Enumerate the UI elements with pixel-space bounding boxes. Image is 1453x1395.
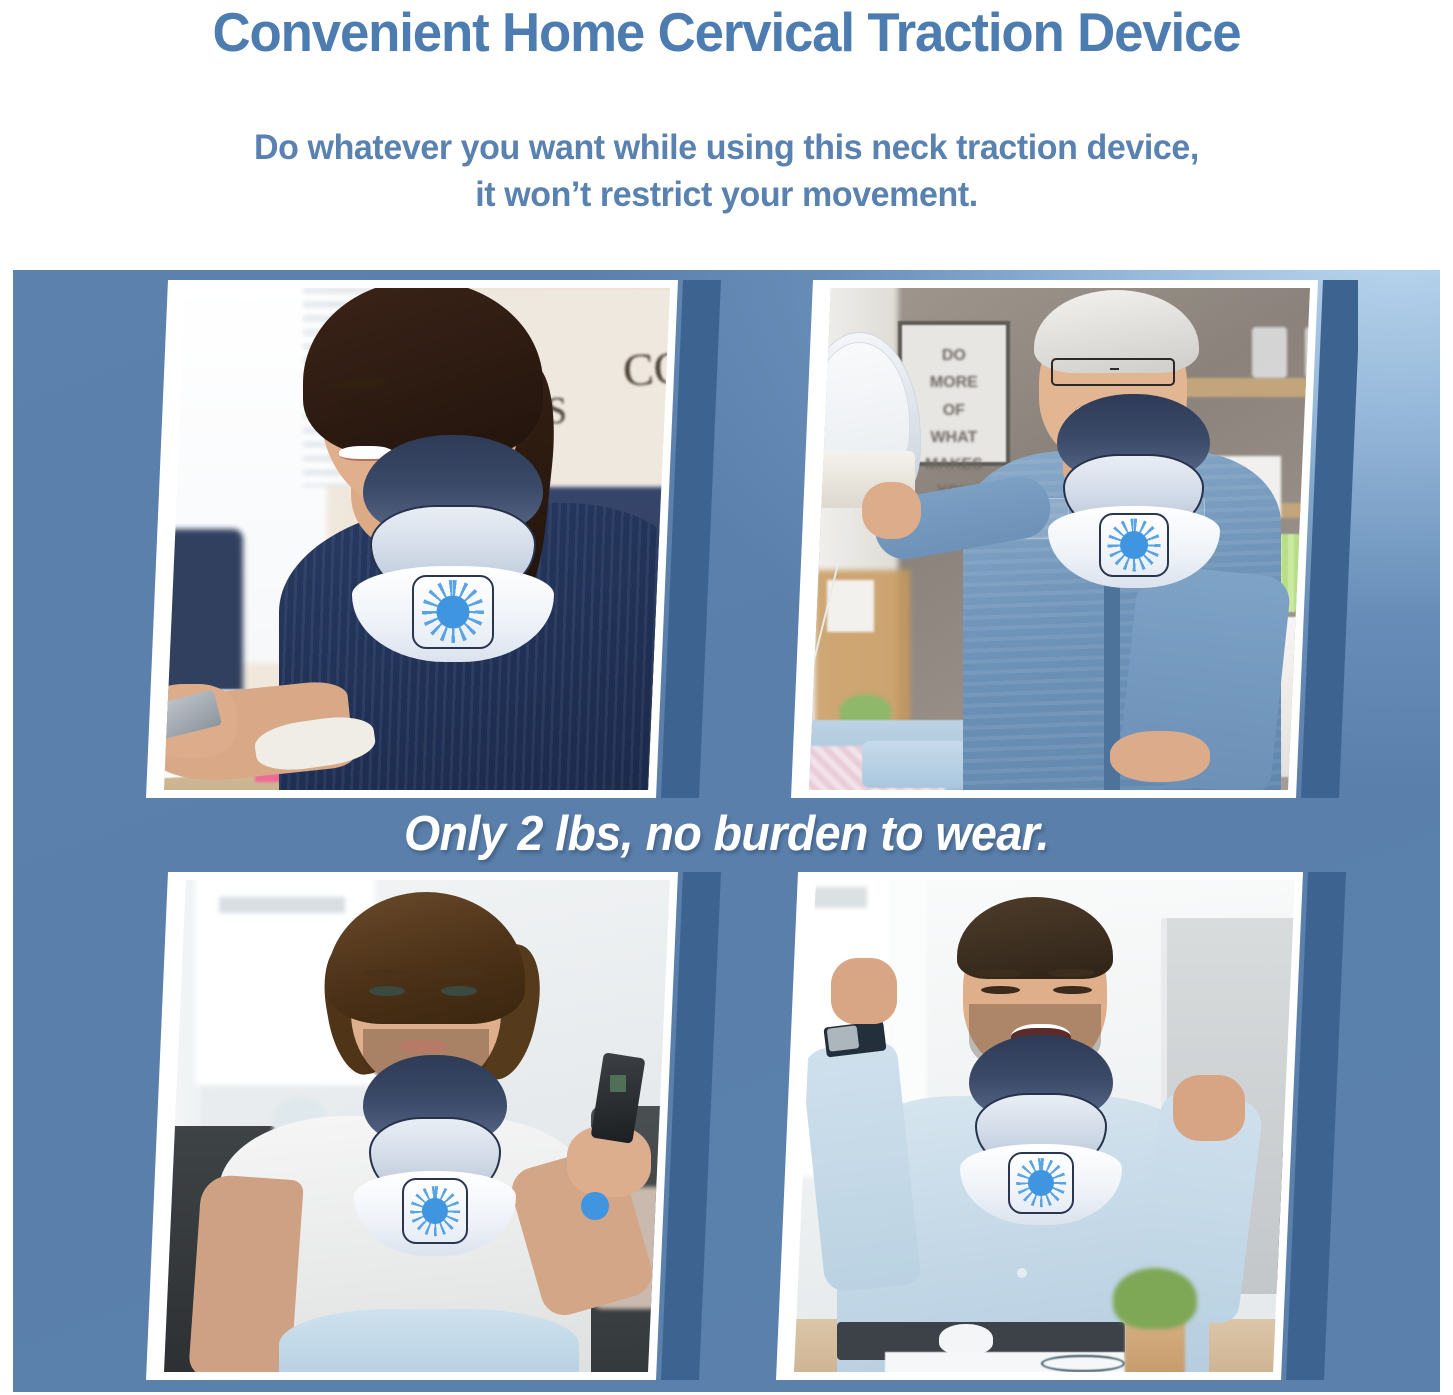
blue-therapy-dot-icon [581, 1192, 609, 1220]
panel-top-right: DO MORE OF WHAT MAKES YOU HAPPY [768, 280, 1358, 798]
panel-bottom-left [123, 872, 723, 1380]
scene-couch-remote [123, 872, 723, 1380]
panel-photo-top-left: CO S [123, 280, 723, 798]
scene-desk-celebration [753, 872, 1353, 1380]
panel-bottom-right [753, 872, 1353, 1380]
header-section: Convenient Home Cervical Traction Device… [0, 0, 1453, 262]
device-dial-icon [1120, 531, 1148, 559]
panel-photo-bottom-right [753, 872, 1353, 1380]
subtitle-line-2: it won’t restrict your movement. [22, 172, 1431, 219]
subtitle-line-1: Do whatever you want while using this ne… [22, 125, 1431, 172]
eyeglasses-icon [1051, 358, 1175, 386]
cervical-traction-device [969, 1035, 1113, 1218]
panel-photo-bottom-left [123, 872, 723, 1380]
scene-office-phone: CO S [123, 280, 723, 798]
page-title: Convenient Home Cervical Traction Device [29, 2, 1424, 64]
cervical-traction-device [1057, 394, 1210, 580]
panel-top-left: CO S [123, 280, 723, 798]
banner-headline: Only 2 lbs, no burden to wear. [49, 806, 1405, 862]
cervical-traction-device [363, 435, 543, 653]
panel-photo-top-right: DO MORE OF WHAT MAKES YOU HAPPY [768, 280, 1358, 798]
whiteboard-text-1: CO [622, 341, 689, 397]
cervical-traction-device [363, 1055, 507, 1248]
device-dial-icon [1028, 1170, 1054, 1196]
page-subtitle: Do whatever you want while using this ne… [22, 125, 1431, 218]
product-infographic: Convenient Home Cervical Traction Device… [0, 0, 1453, 1395]
scene-ironing: DO MORE OF WHAT MAKES YOU HAPPY [768, 280, 1358, 798]
computer-mouse [939, 1324, 993, 1354]
device-dial-icon [436, 595, 469, 628]
device-dial-icon [422, 1198, 448, 1224]
photo-collage-canvas: CO S [13, 270, 1440, 1392]
